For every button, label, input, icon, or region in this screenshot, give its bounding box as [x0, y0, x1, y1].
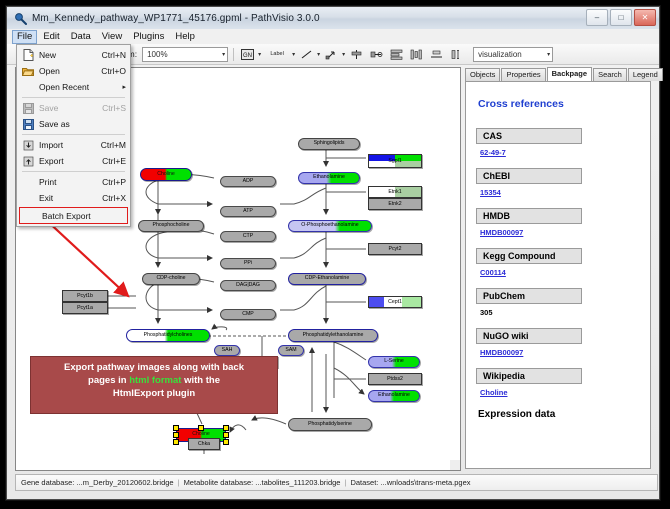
interaction-dropdown-arrow[interactable]: ▾: [342, 51, 345, 58]
pathway-node-atp[interactable]: ATP: [220, 206, 276, 217]
interaction-tool-button[interactable]: [323, 46, 340, 63]
menu-file[interactable]: File: [12, 30, 37, 44]
pathway-node-o-phosphoethanolamine[interactable]: O-Phosphoethanolamine: [288, 220, 372, 232]
label-tool-text: Label: [270, 51, 283, 57]
window-controls: – □ ✕: [586, 9, 656, 26]
file-menu-item-batch-export[interactable]: Batch Export: [19, 207, 128, 224]
xref-database-label: PubChem: [476, 288, 582, 304]
blank-icon: [21, 192, 35, 205]
line-dropdown-arrow[interactable]: ▾: [317, 51, 320, 58]
node-label: Choline: [192, 432, 210, 437]
pathway-node-ctp[interactable]: CTP: [220, 231, 276, 242]
node-label: Sgpl1: [369, 155, 421, 167]
file-menu-item-open-recent[interactable]: Open Recent ▸: [17, 79, 130, 95]
pathway-gene-sgpl1[interactable]: Sgpl1: [368, 154, 422, 168]
zoom-value: 100%: [147, 50, 167, 59]
distribute-vertical-tool-button[interactable]: [388, 46, 405, 63]
xref-database-label: NuGO wiki: [476, 328, 582, 344]
annotation-callout: Export pathway images along with back pa…: [30, 356, 278, 414]
menu-view[interactable]: View: [97, 30, 127, 44]
menu-item-label: Save: [39, 103, 96, 113]
node-label: Phosphatidylcholines: [144, 333, 193, 338]
tab-search[interactable]: Search: [593, 68, 627, 81]
pathway-gene-pcyt2[interactable]: Pcyt2: [368, 243, 422, 255]
node-label: O-Phosphoethanolamine: [301, 223, 358, 228]
xref-value[interactable]: C00114: [480, 268, 642, 277]
node-label: SAH: [222, 348, 233, 353]
align-middle-tool-button[interactable]: [368, 46, 385, 63]
menu-item-label: New: [39, 50, 96, 60]
tab-properties[interactable]: Properties: [501, 68, 545, 81]
menu-item-label: Print: [39, 177, 96, 187]
chevron-down-icon: ▾: [222, 51, 225, 58]
menu-item-shortcut: Ctrl+M: [101, 140, 126, 150]
xref-chebi: ChEBI 15354: [476, 166, 642, 197]
xref-database-label: Wikipedia: [476, 368, 582, 384]
file-menu-item-new[interactable]: New Ctrl+N: [17, 47, 130, 63]
node-label: Chka: [189, 439, 219, 449]
callout-highlight: html format: [129, 375, 181, 386]
menu-item-label: Batch Export: [42, 211, 123, 221]
pathway-node-ppi[interactable]: PPi: [220, 258, 276, 269]
close-button[interactable]: ✕: [634, 9, 656, 26]
xref-value[interactable]: 62-49-7: [480, 148, 642, 157]
menu-item-label: Import: [39, 140, 95, 150]
menu-help[interactable]: Help: [170, 30, 200, 44]
blank-icon: [21, 81, 35, 94]
callout-line-2: pages in html format with the: [37, 374, 271, 387]
minimize-button[interactable]: –: [586, 9, 608, 26]
canvas-scroll-corner[interactable]: [450, 460, 460, 470]
size-tool-button[interactable]: [448, 46, 465, 63]
pathway-node-sam[interactable]: SAM: [278, 345, 304, 356]
chevron-down-icon: ▾: [547, 51, 550, 58]
menu-item-label: Export: [39, 156, 96, 166]
menu-edit[interactable]: Edit: [38, 30, 64, 44]
status-bar: Gene database: ...m_Derby_20120602.bridg…: [15, 474, 658, 491]
callout-line-1: Export pathway images along with back: [37, 361, 271, 374]
menu-bar: File Edit Data View Plugins Help: [7, 29, 659, 45]
pathway-node-phosphatidylethanolamine[interactable]: Phosphatidylethanolamine: [288, 329, 378, 342]
pathway-node-ethanolamine-2[interactable]: Ethanolamine: [368, 390, 420, 402]
node-label: L-Serine: [384, 359, 404, 364]
callout-line-2-post: with the: [181, 375, 220, 386]
save-as-disk-icon: [21, 118, 35, 131]
visualization-value: visualization: [478, 50, 522, 59]
datanode-tool-button[interactable]: GN: [239, 46, 256, 63]
distribute-horizontal-tool-button[interactable]: [408, 46, 425, 63]
pathway-node-ethanolamine-1[interactable]: Ethanolamine: [298, 172, 360, 184]
xref-link[interactable]: Choline: [480, 388, 508, 397]
xref-cas: CAS 62-49-7: [476, 126, 642, 157]
tab-backpage[interactable]: Backpage: [547, 67, 592, 81]
menu-item-shortcut: Ctrl+E: [102, 156, 126, 166]
sidebar-tab-strip: Objects Properties Backpage Search Legen…: [465, 67, 651, 81]
pathway-node-sah[interactable]: SAH: [214, 345, 240, 356]
node-label: Ptdss2: [369, 374, 421, 384]
menu-item-label: Open: [39, 66, 95, 76]
file-menu-item-print[interactable]: Print Ctrl+P: [17, 174, 130, 190]
toolbar-divider: [233, 48, 234, 61]
window-title: Mm_Kennedy_pathway_WP1771_45176.gpml - P…: [32, 13, 320, 24]
xref-link[interactable]: HMDB00097: [480, 228, 523, 237]
node-label: CDP-choline: [156, 276, 185, 281]
node-label: DAG|DAG: [236, 283, 260, 288]
submenu-arrow-icon: ▸: [122, 83, 126, 91]
status-separator: |: [178, 478, 180, 487]
open-folder-icon: [21, 65, 35, 78]
node-label: PPi: [244, 261, 252, 266]
xref-hmdb: HMDB HMDB00097: [476, 206, 642, 237]
menu-item-shortcut: Ctrl+S: [102, 103, 126, 113]
node-label: Phosphocholine: [153, 223, 190, 228]
node-label: Phosphatidylethanolamine: [303, 333, 364, 338]
file-menu-item-exit[interactable]: Exit Ctrl+X: [17, 190, 130, 206]
xref-database-label: CAS: [476, 128, 582, 144]
pathway-node-cdp-choline[interactable]: CDP-choline: [142, 273, 200, 285]
pathway-gene-ptdss2[interactable]: Ptdss2: [368, 373, 422, 385]
file-menu-item-export[interactable]: Export Ctrl+E: [17, 153, 130, 169]
pathway-node-cmp[interactable]: CMP: [220, 309, 276, 320]
node-label: Pcyt1a: [63, 303, 107, 313]
pathway-node-phosphatidylserine[interactable]: Phosphatidylserine: [288, 418, 372, 431]
node-label: Pcyt1b: [63, 291, 107, 301]
file-menu-item-import[interactable]: Import Ctrl+M: [17, 137, 130, 153]
application-window: Mm_Kennedy_pathway_WP1771_45176.gpml - P…: [6, 6, 660, 500]
node-label: CDP-Ethanolamine: [305, 276, 349, 281]
pathway-node-phosphocholine[interactable]: Phosphocholine: [138, 220, 204, 232]
menu-separator: [22, 171, 125, 172]
menu-item-shortcut: Ctrl+P: [102, 177, 126, 187]
node-label: ADP: [243, 179, 254, 184]
xref-kegg-compound: Kegg Compound C00114: [476, 246, 642, 277]
pathway-gene-cept1[interactable]: Cept1: [368, 296, 422, 308]
cross-references-heading: Cross references: [478, 98, 642, 110]
node-label: Ethanolamine: [378, 393, 410, 398]
file-menu-item-open[interactable]: Open Ctrl+O: [17, 63, 130, 79]
node-label: Ethanolamine: [313, 175, 345, 180]
node-label: SAM: [285, 348, 296, 353]
label-tool-button[interactable]: Label: [264, 46, 290, 63]
xref-value[interactable]: 15354: [480, 188, 642, 197]
node-label: Etnk1: [369, 187, 421, 197]
xref-value[interactable]: HMDB00097: [480, 228, 642, 237]
file-menu-item-save-as[interactable]: Save as: [17, 116, 130, 132]
xref-value[interactable]: HMDB00097: [480, 348, 642, 357]
pathway-node-choline[interactable]: Choline: [140, 168, 192, 181]
pathway-gene-etnk2[interactable]: Etnk2: [368, 198, 422, 210]
callout-line-3: HtmlExport plugin: [37, 387, 271, 400]
tab-objects[interactable]: Objects: [465, 68, 500, 81]
status-metabolite-database: Metabolite database: ...tabolites_111203…: [184, 478, 341, 487]
maximize-button[interactable]: □: [610, 9, 632, 26]
menu-item-label: Open Recent: [39, 82, 116, 92]
pathway-node-phosphatidylcholines[interactable]: Phosphatidylcholines: [126, 329, 210, 342]
menu-item-shortcut: Ctrl+N: [102, 50, 126, 60]
menu-item-shortcut: Ctrl+O: [101, 66, 126, 76]
datanode-dropdown-arrow[interactable]: ▾: [258, 51, 261, 58]
xref-link[interactable]: 62-49-7: [480, 148, 506, 157]
xref-nugo-wiki: NuGO wiki HMDB00097: [476, 326, 642, 357]
node-label: Sphingolipids: [314, 141, 345, 146]
expression-data-heading: Expression data: [478, 409, 642, 420]
menu-item-shortcut: Ctrl+X: [102, 193, 126, 203]
status-gene-database: Gene database: ...m_Derby_20120602.bridg…: [21, 478, 174, 487]
menu-plugins[interactable]: Plugins: [128, 30, 169, 44]
pathvisio-app-icon: [14, 12, 27, 25]
xref-database-label: Kegg Compound: [476, 248, 582, 264]
node-label: ATP: [243, 209, 253, 214]
pathway-node-sphingolipids[interactable]: Sphingolipids: [298, 138, 360, 150]
menu-separator: [22, 97, 125, 98]
pathway-node-adp[interactable]: ADP: [220, 176, 276, 187]
node-label: Pcyt2: [369, 244, 421, 254]
export-icon: [21, 155, 35, 168]
node-label: Phosphatidylserine: [308, 422, 352, 427]
zoom-combobox[interactable]: 100% ▾: [142, 47, 228, 62]
window-title-bar: Mm_Kennedy_pathway_WP1771_45176.gpml - P…: [7, 7, 659, 30]
xref-value[interactable]: Choline: [480, 388, 642, 397]
pathway-gene-pcyt1b[interactable]: Pcyt1b: [62, 290, 108, 302]
line-tool-button[interactable]: [298, 46, 315, 63]
node-label: Etnk2: [369, 199, 421, 209]
xref-database-label: ChEBI: [476, 168, 582, 184]
xref-link[interactable]: C00114: [480, 268, 506, 277]
pathway-gene-chka[interactable]: Chka: [188, 438, 220, 450]
node-label: Choline: [157, 172, 175, 177]
node-label: CTP: [243, 234, 253, 239]
file-menu-item-save: Save Ctrl+S: [17, 100, 130, 116]
save-disk-icon: [21, 102, 35, 115]
node-label: Cept1: [369, 297, 421, 307]
menu-item-label: Exit: [39, 193, 96, 203]
screenshot-root: Mm_Kennedy_pathway_WP1771_45176.gpml - P…: [0, 0, 670, 509]
blank-icon: [21, 176, 35, 189]
blank-icon: [24, 209, 38, 222]
backpage-content[interactable]: Cross references CAS 62-49-7 ChEBI 15354…: [465, 81, 651, 469]
label-dropdown-arrow[interactable]: ▾: [292, 51, 295, 58]
status-separator: |: [344, 478, 346, 487]
xref-wikipedia: Wikipedia Choline: [476, 366, 642, 397]
menu-data[interactable]: Data: [66, 30, 96, 44]
status-dataset: Dataset: ...wnloads\trans-meta.pgex: [350, 478, 470, 487]
pathway-node-l-serine[interactable]: L-Serine: [368, 356, 420, 368]
xref-pubchem: PubChem 305: [476, 286, 642, 317]
menu-separator: [22, 134, 125, 135]
align-center-tool-button[interactable]: [348, 46, 365, 63]
callout-line-2-pre: pages in: [88, 375, 129, 386]
stack-tool-button[interactable]: [428, 46, 445, 63]
import-icon: [21, 139, 35, 152]
pathway-node-cdp-ethanolamine[interactable]: CDP-Ethanolamine: [288, 273, 366, 285]
xref-database-label: HMDB: [476, 208, 582, 224]
pathway-gene-etnk1[interactable]: Etnk1: [368, 186, 422, 198]
visualization-combobox[interactable]: visualization ▾: [473, 47, 553, 62]
xref-value: 305: [480, 308, 642, 317]
menu-item-label: Save as: [39, 119, 120, 129]
node-label: CMP: [242, 312, 254, 317]
xref-link[interactable]: 15354: [480, 188, 501, 197]
file-menu-popup[interactable]: New Ctrl+N Open Ctrl+O Open Recent ▸: [16, 44, 131, 227]
tab-legend[interactable]: Legend: [628, 68, 663, 81]
xref-link[interactable]: HMDB00097: [480, 348, 523, 357]
new-document-icon: [21, 49, 35, 62]
right-side-panel: Objects Properties Backpage Search Legen…: [465, 67, 651, 469]
pathway-gene-pcyt1a[interactable]: Pcyt1a: [62, 302, 108, 314]
svg-text:GN: GN: [243, 53, 252, 59]
pathway-node-dag[interactable]: DAG|DAG: [220, 280, 276, 291]
